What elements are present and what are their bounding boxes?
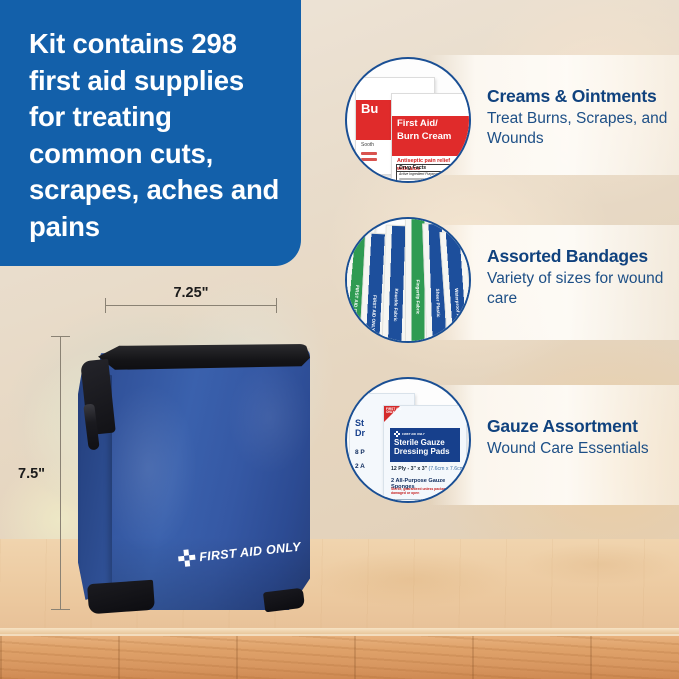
feature-creams-ointments: FIRST AID ONLY Bu Sooth FIRST AID ONLY F… bbox=[345, 52, 679, 188]
feature-gauze-assortment: FIRST AID ONLY St Dr 8 P 2 A FIRST AID O… bbox=[345, 372, 679, 508]
bag-front-panel bbox=[100, 348, 310, 610]
width-dimension-line bbox=[105, 305, 277, 306]
gauze-back-counts: 8 P 2 A bbox=[355, 446, 365, 475]
width-dimension-label: 7.25" bbox=[105, 285, 277, 301]
burn-cream-packet-front: FIRST AID ONLY First Aid/ Burn Cream Ant… bbox=[391, 93, 471, 183]
gauze-title-line-2: Dressing Pads bbox=[394, 448, 456, 457]
gauze-brand-lockup: FIRST AID ONLY bbox=[394, 431, 456, 437]
packet-back-sub: Sooth bbox=[361, 142, 374, 150]
height-dimension-line bbox=[60, 336, 61, 610]
gauze-brand-text: FIRST AID ONLY bbox=[402, 432, 425, 436]
packet-bullet-lines bbox=[361, 152, 377, 164]
feature-1-image-circle: FIRST AID ONLY Bu Sooth FIRST AID ONLY F… bbox=[345, 57, 471, 183]
checkered-cross-icon bbox=[394, 431, 400, 437]
packet-back-title: Bu bbox=[361, 102, 378, 116]
wood-table-edge bbox=[0, 634, 679, 679]
corner-brand-text: FIRST AID ONLY bbox=[386, 408, 401, 415]
infographic-canvas: Kit contains 298 first aid supplies for … bbox=[0, 0, 679, 679]
feature-assorted-bandages: FIRST AID ONLY FIRST AID ONLY Knuckle Fa… bbox=[345, 212, 679, 348]
gauze-sterility-note: Sterile, guaranteed unless package is da… bbox=[391, 487, 459, 495]
feature-2-title: Assorted Bandages bbox=[487, 246, 679, 267]
gauze-package-front: FIRST AID ONLY FIRST AID ONLY Sterile Ga… bbox=[383, 405, 467, 503]
drug-facts-subheading: Active Ingredient Purpose bbox=[397, 172, 467, 176]
height-dimension-label: 7.5" bbox=[18, 466, 45, 482]
feature-2-text: Assorted Bandages Variety of sizes for w… bbox=[471, 246, 679, 314]
gauze-fine-print bbox=[391, 499, 459, 503]
feature-2-image-circle: FIRST AID ONLY FIRST AID ONLY Knuckle Fa… bbox=[345, 217, 471, 343]
bag-bottom-trim-right bbox=[263, 588, 305, 613]
drug-facts-heading: Drug Facts bbox=[397, 165, 467, 172]
bag-bottom-trim-left bbox=[87, 580, 155, 615]
first-aid-kit-bag: FIRST AID ONLY bbox=[78, 340, 310, 612]
packet-title-line-2: Burn Cream bbox=[397, 132, 451, 142]
feature-1-subtitle: Treat Burns, Scrapes, and Wounds bbox=[487, 109, 679, 148]
gauze-title-panel: FIRST AID ONLY Sterile Gauze Dressing Pa… bbox=[390, 428, 460, 462]
feature-3-title: Gauze Assortment bbox=[487, 416, 649, 437]
feature-1-text: Creams & Ointments Treat Burns, Scrapes,… bbox=[471, 86, 679, 154]
packet-brand-lockup: FIRST AID ONLY bbox=[360, 83, 396, 90]
checkered-cross-icon bbox=[360, 83, 367, 90]
feature-2-subtitle: Variety of sizes for wound care bbox=[487, 269, 679, 308]
headline-panel: Kit contains 298 first aid supplies for … bbox=[0, 0, 301, 266]
corner-brand-text: FIRST AID ONLY bbox=[352, 396, 367, 403]
packet-brand-lockup: FIRST AID ONLY bbox=[396, 99, 432, 106]
feature-1-title: Creams & Ointments bbox=[487, 86, 679, 107]
feature-3-image-circle: FIRST AID ONLY St Dr 8 P 2 A FIRST AID O… bbox=[345, 377, 471, 503]
headline-text: Kit contains 298 first aid supplies for … bbox=[29, 26, 281, 245]
packet-title-line-1: First Aid/ bbox=[397, 119, 438, 129]
packet-brand-text: FIRST AID ONLY bbox=[405, 101, 432, 105]
feature-3-text: Gauze Assortment Wound Care Essentials bbox=[471, 416, 649, 464]
checkered-cross-icon bbox=[396, 99, 403, 106]
gauze-spec: 12 Ply - 3" x 3" (7.6cm x 7.6cm) bbox=[391, 466, 466, 472]
feature-3-subtitle: Wound Care Essentials bbox=[487, 439, 649, 458]
drug-facts-panel: Drug Facts Active Ingredient Purpose bbox=[396, 164, 468, 183]
gauze-back-title: St Dr bbox=[355, 418, 365, 439]
packet-brand-text: FIRST AID ONLY bbox=[369, 85, 396, 89]
checkered-cross-icon bbox=[177, 549, 196, 568]
